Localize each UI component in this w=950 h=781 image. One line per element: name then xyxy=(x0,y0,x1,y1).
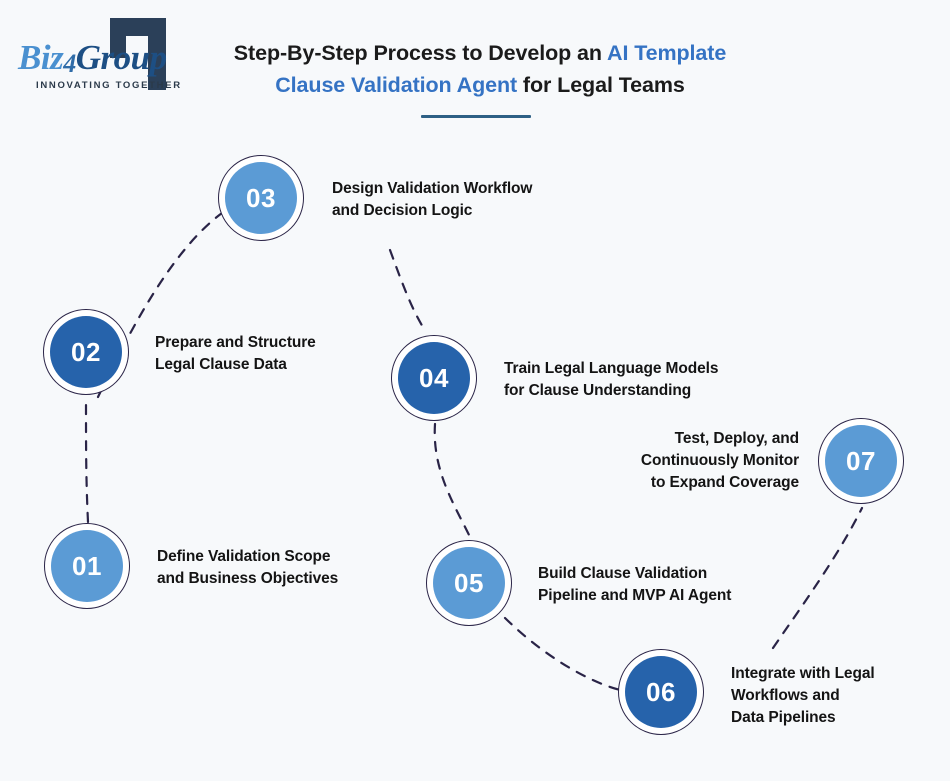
step-02-label: Prepare and Structure Legal Clause Data xyxy=(155,332,385,376)
title-line2-plain: for Legal Teams xyxy=(517,73,685,97)
step-02-number: 02 xyxy=(50,316,122,388)
page-title: Step-By-Step Process to Develop an AI Te… xyxy=(185,38,775,102)
step-04-label: Train Legal Language Models for Clause U… xyxy=(504,358,772,402)
connector-05-06 xyxy=(505,618,625,691)
step-06-label: Integrate with Legal Workflows and Data … xyxy=(731,663,941,729)
step-04-circle[interactable]: 04 xyxy=(391,335,477,421)
title-underline-rule xyxy=(421,115,531,118)
brand-logo: Biz4Group INNOVATING TOGETHER xyxy=(14,18,174,96)
logo-wordmark-number: 4 xyxy=(63,49,76,78)
step-07-number: 07 xyxy=(825,425,897,497)
step-01-number: 01 xyxy=(51,530,123,602)
step-01-circle[interactable]: 01 xyxy=(44,523,130,609)
header: Biz4Group INNOVATING TOGETHER Step-By-St… xyxy=(0,0,950,140)
step-07-circle[interactable]: 07 xyxy=(818,418,904,504)
infographic-canvas: Biz4Group INNOVATING TOGETHER Step-By-St… xyxy=(0,0,950,781)
step-04-number: 04 xyxy=(398,342,470,414)
step-05-number: 05 xyxy=(433,547,505,619)
title-line2-highlight: Clause Validation Agent xyxy=(275,73,517,97)
connector-01-02 xyxy=(86,398,88,522)
step-06-number: 06 xyxy=(625,656,697,728)
step-03-label: Design Validation Workflow and Decision … xyxy=(332,178,594,222)
step-05-label: Build Clause Validation Pipeline and MVP… xyxy=(538,563,798,607)
logo-tagline: INNOVATING TOGETHER xyxy=(36,80,182,91)
title-line1-plain: Step-By-Step Process to Develop an xyxy=(234,41,607,65)
step-02-circle[interactable]: 02 xyxy=(43,309,129,395)
step-03-number: 03 xyxy=(225,162,297,234)
logo-wordmark-prefix: Biz xyxy=(18,38,63,77)
connector-04-05 xyxy=(435,424,470,537)
step-05-circle[interactable]: 05 xyxy=(426,540,512,626)
step-06-circle[interactable]: 06 xyxy=(618,649,704,735)
step-01-label: Define Validation Scope and Business Obj… xyxy=(157,546,402,590)
step-03-circle[interactable]: 03 xyxy=(218,155,304,241)
title-line1-highlight: AI Template xyxy=(607,41,726,65)
connector-03-04 xyxy=(390,250,426,332)
step-07-label: Test, Deploy, and Continuously Monitor t… xyxy=(578,428,799,494)
logo-wordmark-suffix: Group xyxy=(76,38,167,77)
logo-wordmark: Biz4Group xyxy=(18,38,167,79)
